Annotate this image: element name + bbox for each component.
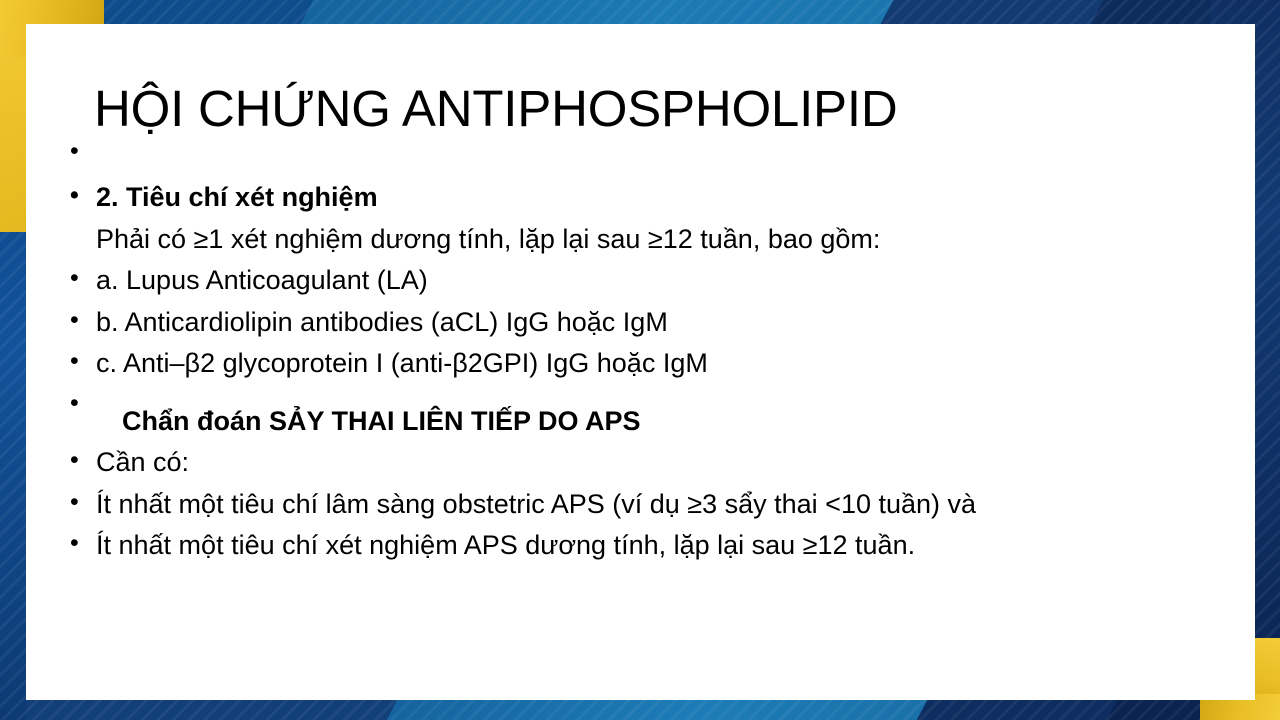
list-item-empty-1	[66, 136, 1235, 180]
intro-line: Phải có ≥1 xét nghiệm dương tính, lặp lạ…	[66, 222, 1235, 257]
list-item-requirement-2: Ít nhất một tiêu chí xét nghiệm APS dươn…	[66, 528, 1235, 563]
list-item-requirement-label: Cần có:	[66, 445, 1235, 480]
list-item-requirement-1: Ít nhất một tiêu chí lâm sàng obstetric …	[66, 487, 1235, 522]
slide: HỘI CHỨNG ANTIPHOSPHOLIPID 2. Tiêu chí x…	[0, 0, 1280, 720]
list-item-criterion-c: c. Anti–β2 glycoprotein I (anti-β2GPI) I…	[66, 346, 1235, 381]
requirements-list: Cần có: Ít nhất một tiêu chí lâm sàng ob…	[66, 445, 1235, 563]
list-item-section-heading: 2. Tiêu chí xét nghiệm	[66, 180, 1235, 215]
content-card: HỘI CHỨNG ANTIPHOSPHOLIPID 2. Tiêu chí x…	[26, 24, 1255, 700]
list-item-empty-2	[66, 388, 1235, 404]
criteria-list: a. Lupus Anticoagulant (LA) b. Anticardi…	[66, 263, 1235, 404]
bullet-list: 2. Tiêu chí xét nghiệm	[66, 136, 1235, 215]
list-item-criterion-b: b. Anticardiolipin antibodies (aCL) IgG …	[66, 305, 1235, 340]
slide-title: HỘI CHỨNG ANTIPHOSPHOLIPID	[94, 82, 897, 136]
diagnosis-heading: Chẩn đoán SẢY THAI LIÊN TIẾP DO APS	[66, 404, 1235, 439]
list-item-criterion-a: a. Lupus Anticoagulant (LA)	[66, 263, 1235, 298]
slide-body: 2. Tiêu chí xét nghiệm Phải có ≥1 xét ng…	[66, 136, 1235, 570]
